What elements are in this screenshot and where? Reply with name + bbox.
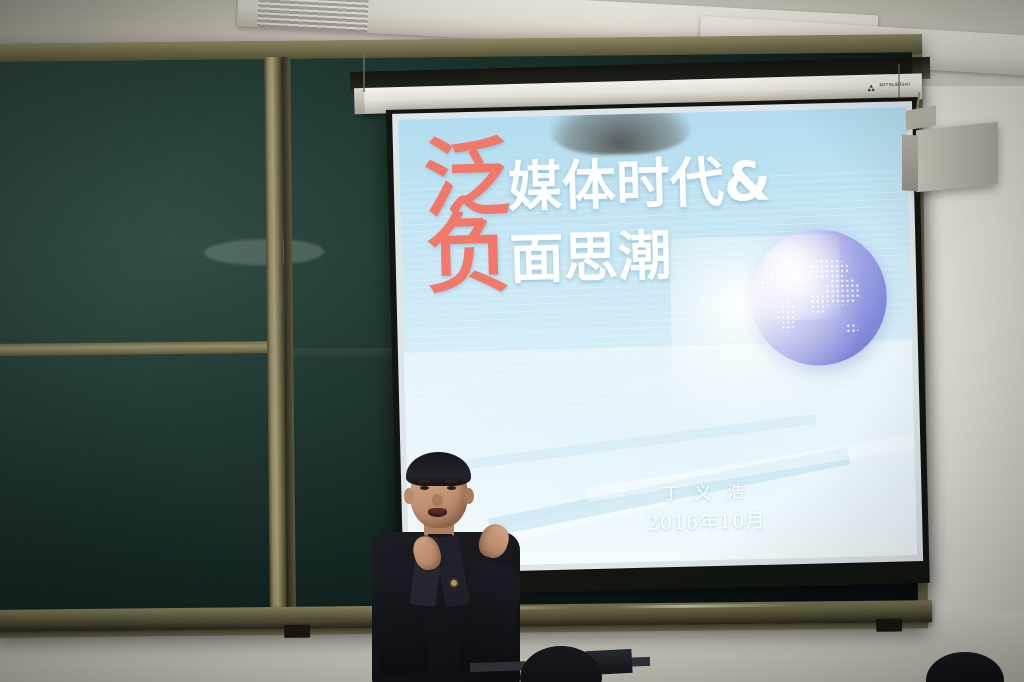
wall-speaker-face (902, 134, 918, 191)
presenter-mouth (428, 508, 447, 517)
presenter-hair (406, 452, 471, 486)
mitsubishi-logo: MITSUBISHI (866, 80, 910, 90)
presenter-ear-right (464, 488, 474, 504)
presenter-eyebrow-right (445, 480, 457, 483)
slide-title-block: 泛 媒体时代& 负 面思潮 (423, 127, 827, 299)
lecture-photo-scene: MITSUBISHI (0, 0, 1024, 682)
ledge-bracket (284, 625, 310, 638)
mitsubishi-three-diamonds-icon (866, 81, 876, 90)
presenter-eye-right (447, 486, 456, 490)
presenter-eyebrow-left (418, 480, 430, 483)
presenter-lapel-pin (451, 580, 457, 586)
slide-title-accent-char-2: 负 (425, 211, 511, 299)
presenter-ear-left (404, 488, 414, 504)
presenter (352, 452, 562, 682)
slide-title-text-2: 面思潮 (509, 229, 673, 297)
wall-speaker (916, 122, 998, 193)
slide-title-text-1: 媒体时代& (507, 155, 771, 221)
ledge-bracket (876, 618, 902, 631)
mitsubishi-wordmark: MITSUBISHI (879, 81, 910, 87)
presenter-eye-left (420, 486, 429, 490)
ceiling-wire (363, 48, 365, 92)
presenter-nose (432, 494, 443, 506)
